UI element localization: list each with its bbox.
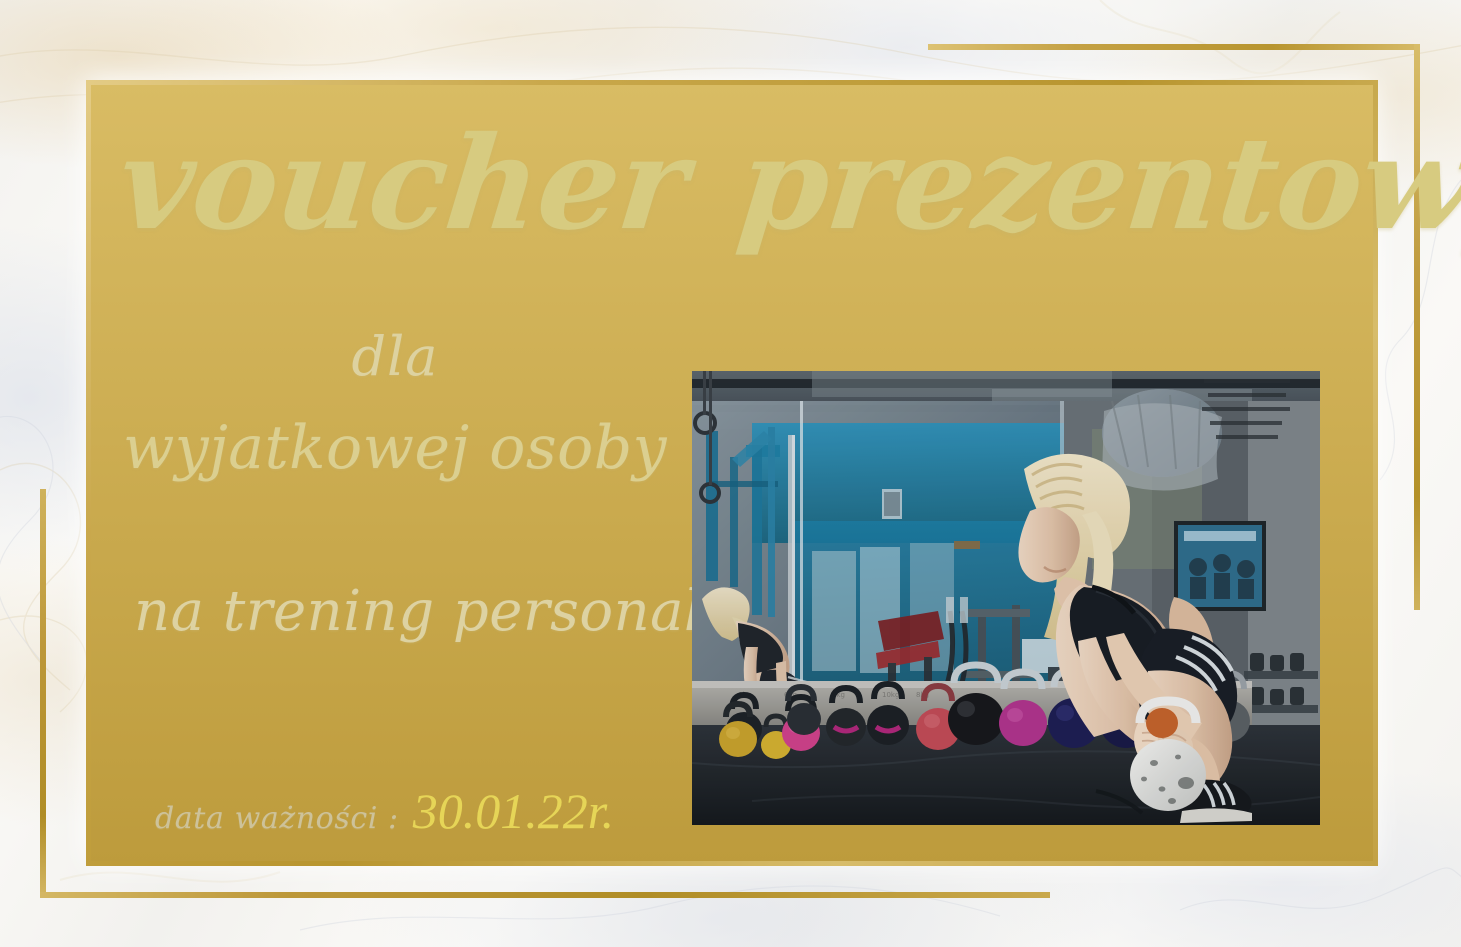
- headline-word-voucher: voucher: [112, 109, 693, 259]
- validity-date: 30.01.22r.: [413, 782, 614, 840]
- copy-line-recipient: wyjatkowej osoby: [110, 418, 680, 478]
- validity-row: data ważności : 30.01.22r.: [155, 782, 614, 840]
- voucher-canvas: voucherprezentowy dla wyjatkowej osoby n…: [0, 0, 1461, 947]
- voucher-headline: voucherprezentowy: [113, 120, 1396, 248]
- gold-frame-outer-top-line: [928, 44, 1420, 50]
- headline-word-prezentowy: prezentowy: [732, 109, 1461, 259]
- gold-frame-outer-bottom-line: [40, 892, 1050, 898]
- gym-photo: 8kg 6kg 8kg 10kg 8kg: [692, 371, 1320, 825]
- voucher-body-copy: dla wyjatkowej osoby na trening personal…: [110, 330, 680, 478]
- validity-label: data ważności :: [155, 801, 399, 836]
- copy-line-service: na trening personalny: [134, 584, 771, 640]
- copy-line-dla: dla: [110, 330, 680, 384]
- gold-frame-outer-left-line: [40, 489, 46, 898]
